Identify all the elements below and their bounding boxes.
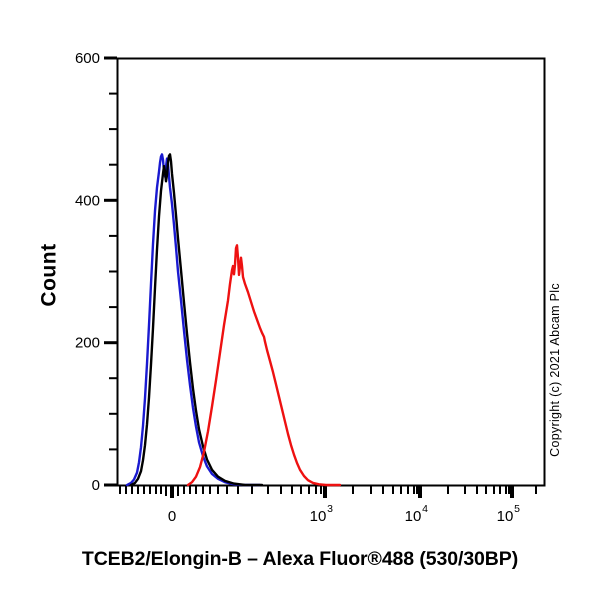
x-tick-exponent-4: 4 bbox=[422, 503, 428, 515]
x-tick-label-1e5: 10 bbox=[497, 508, 514, 525]
flow-cytometry-figure: 0 200 400 600 bbox=[0, 0, 600, 600]
x-tick-exponent-3: 3 bbox=[327, 503, 333, 515]
x-axis-ticks bbox=[120, 485, 536, 498]
copyright-notice: Copyright (c) 2021 Abcam Plc bbox=[543, 230, 567, 510]
x-tick-exponent-5: 5 bbox=[514, 503, 520, 515]
y-tick-label-200: 200 bbox=[75, 335, 100, 352]
x-tick-label-1e4: 10 bbox=[405, 508, 422, 525]
x-tick-label-0: 0 bbox=[168, 508, 176, 525]
y-tick-label-400: 400 bbox=[75, 192, 100, 209]
copyright-text: Copyright (c) 2021 Abcam Plc bbox=[548, 283, 562, 457]
y-axis-tick-labels: 0 200 400 600 bbox=[75, 50, 100, 494]
y-tick-label-600: 600 bbox=[75, 50, 100, 67]
histogram-plot: 0 200 400 600 bbox=[0, 0, 600, 600]
figure-caption: TCEB2/Elongin-B – Alexa Fluor®488 (530/3… bbox=[0, 548, 600, 571]
x-tick-label-1e3: 10 bbox=[310, 508, 327, 525]
y-axis-title: Count bbox=[30, 205, 70, 345]
plot-figure: 0 200 400 600 bbox=[0, 0, 600, 600]
figure-caption-text: TCEB2/Elongin-B – Alexa Fluor®488 (530/3… bbox=[82, 548, 518, 570]
y-tick-label-0: 0 bbox=[92, 477, 100, 494]
y-axis-title-text: Count bbox=[38, 243, 62, 306]
y-axis-ticks bbox=[104, 58, 117, 485]
x-axis-tick-labels: 0 10 3 10 4 10 5 bbox=[168, 503, 520, 525]
